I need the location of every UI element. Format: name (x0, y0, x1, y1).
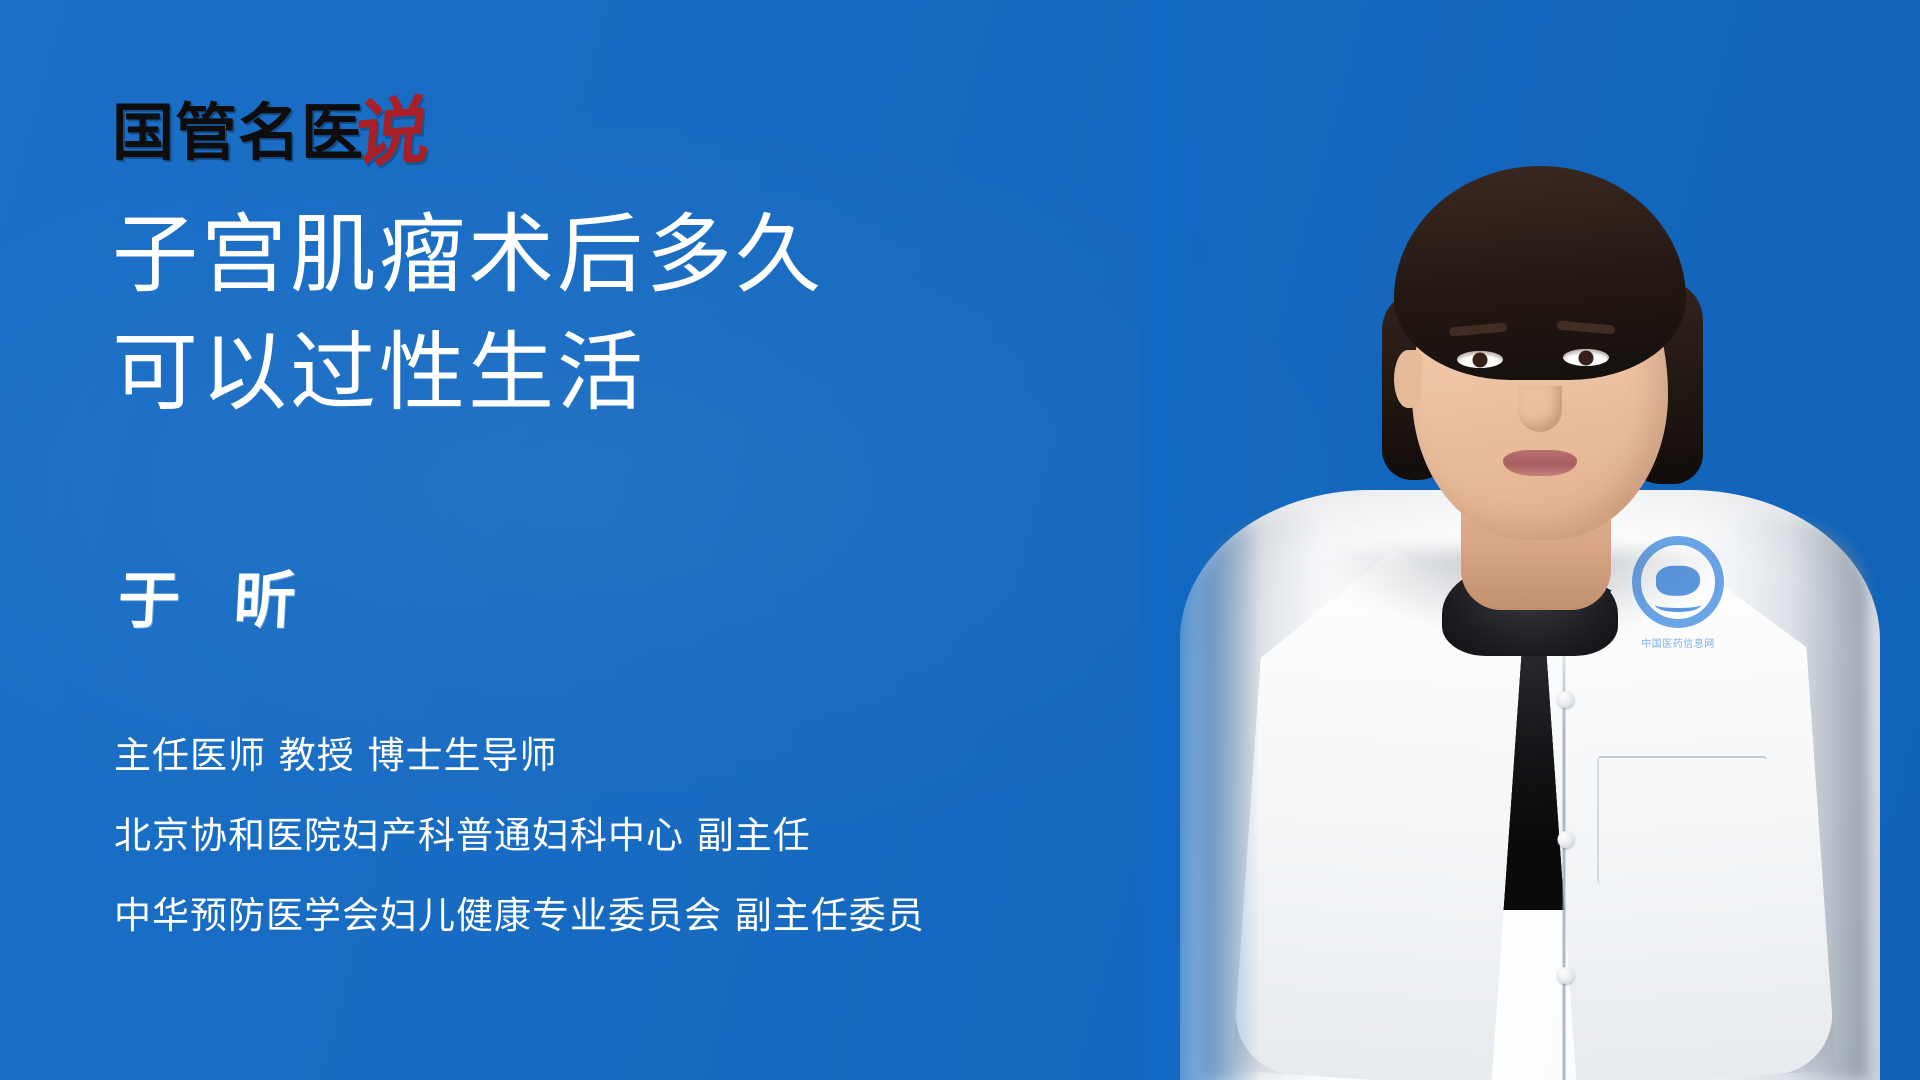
page-title: 子宫肌瘤术后多久 可以过性生活 (112, 196, 1092, 432)
video-cover-slide: 中国医药信息网 国管名医 说 子宫肌瘤术后多久 可以过性生活 于 昕 (0, 0, 1920, 1080)
mouth (1503, 450, 1577, 476)
program-logo: 国管名医 说 (112, 88, 430, 164)
eye-left (1457, 351, 1503, 368)
hair (1394, 166, 1686, 380)
ear-left (1394, 350, 1422, 408)
logo-main-text: 国管名医 (112, 102, 364, 164)
coat-button-top (1558, 691, 1575, 708)
headline-line-1: 子宫肌瘤术后多久 (112, 196, 1092, 314)
headline-line-2: 可以过性生活 (112, 314, 1092, 432)
eye-right (1563, 349, 1609, 366)
coat-button-bottom (1558, 967, 1575, 984)
coat-pocket (1597, 756, 1767, 884)
credential-line-association: 中华预防医学会妇儿健康专业委员会 副主任委员 (114, 876, 1144, 956)
portrait-figure: 中国医药信息网 (1140, 0, 1920, 1080)
speaker-name: 于 昕 (116, 566, 313, 636)
credential-line-hospital: 北京协和医院妇产科普通妇科中心 副主任 (114, 796, 1144, 876)
logo-accent-text: 说 (354, 99, 433, 166)
credential-line-title: 主任医师 教授 博士生导师 (114, 716, 1144, 796)
speaker-credentials: 主任医师 教授 博士生导师 北京协和医院妇产科普通妇科中心 副主任 中华预防医学… (114, 716, 1144, 956)
coat-button-middle (1558, 831, 1575, 848)
nose (1518, 386, 1562, 432)
doctor-portrait: 中国医药信息网 (1140, 0, 1920, 1080)
